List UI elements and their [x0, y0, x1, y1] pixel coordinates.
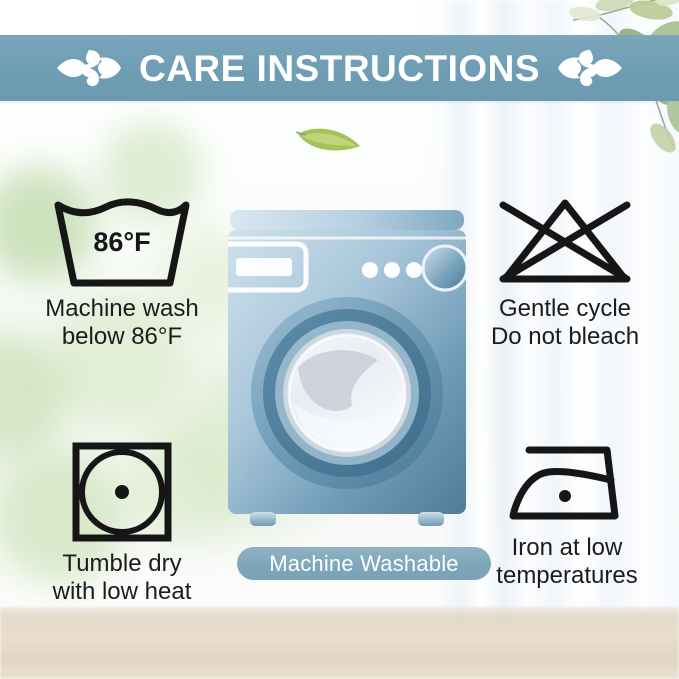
tumble-dry-square-icon — [70, 440, 174, 544]
iron-icon — [507, 440, 627, 528]
banner: CARE INSTRUCTIONS — [0, 35, 679, 101]
page-title: CARE INSTRUCTIONS — [139, 50, 540, 87]
wooden-table-surface — [0, 607, 679, 679]
care-symbol-machine-wash: 86°F Machine wash below 86°F — [22, 193, 222, 350]
wash-temperature-value: 86°F — [93, 227, 150, 257]
fleur-de-lis-icon — [55, 46, 123, 90]
floating-leaf-icon — [296, 122, 362, 156]
washing-machine-illustration — [228, 208, 466, 538]
fleur-de-lis-icon — [556, 46, 624, 90]
care-symbol-caption: Tumble dry with low heat — [53, 550, 192, 605]
wash-tub-icon: 86°F — [48, 193, 196, 289]
care-symbol-no-bleach: Gentle cycle Do not bleach — [460, 193, 670, 350]
care-instructions-infographic: CARE INSTRUCTIONS — [0, 0, 679, 679]
status-badge: Machine Washable — [237, 547, 491, 580]
care-symbol-caption: Gentle cycle Do not bleach — [491, 295, 639, 350]
banner-shadow — [0, 99, 679, 104]
care-symbol-tumble-dry: Tumble dry with low heat — [22, 440, 222, 605]
status-badge-label: Machine Washable — [269, 553, 458, 575]
care-symbol-iron: Iron at low temperatures — [462, 440, 672, 589]
crossed-triangle-icon — [489, 193, 641, 289]
care-symbol-caption: Iron at low temperatures — [496, 534, 637, 589]
care-symbol-caption: Machine wash below 86°F — [45, 295, 198, 350]
